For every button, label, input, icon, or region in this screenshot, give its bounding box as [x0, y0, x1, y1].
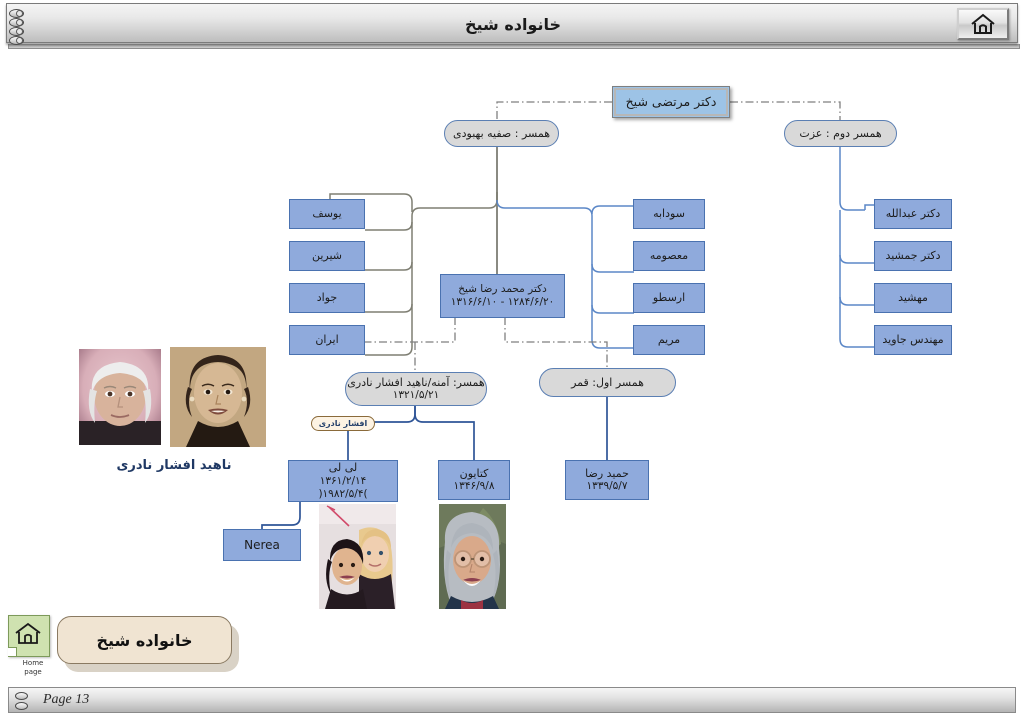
node-date-1: ۱۳۴۶/۹/۸: [454, 480, 495, 493]
node-dates: ۱۲۸۴/۶/۲۰ - ۱۳۱۶/۶/۱۰: [451, 296, 555, 309]
node-child-left-1[interactable]: یوسف: [289, 199, 365, 229]
node-center-spouse-2[interactable]: همسر: آمنه/ناهید افشار نادری ۱۳۲۱/۵/۲۱: [345, 372, 487, 406]
node-label: یوسف: [312, 207, 341, 221]
node-second-wife-child-1[interactable]: دکتر عبدالله: [874, 199, 952, 229]
home-page-shortcut[interactable]: Home page: [8, 615, 50, 659]
node-child-left-4[interactable]: ایران: [289, 325, 365, 355]
node-label: Nerea: [244, 538, 280, 553]
node-grandchild-2[interactable]: کتایون ۱۳۴۶/۹/۸: [438, 460, 510, 500]
node-date-2: )۱۹۸۲/۵/۴(: [318, 488, 367, 501]
home-page-label-line1: Home: [23, 659, 44, 667]
node-second-wife-child-2[interactable]: دکتر جمشید: [874, 241, 952, 271]
node-label: همسر : صفیه بهبودی: [453, 127, 550, 141]
node-label: مریم: [658, 333, 680, 347]
node-child-left-3[interactable]: جواد: [289, 283, 365, 313]
spiral-binding-icon-bottom: [11, 690, 31, 712]
node-label: همسر دوم : عزت: [799, 127, 881, 141]
node-great-grandchild[interactable]: Nerea: [223, 529, 301, 561]
family-tree-diagram: دکتر مرتضی شیخ همسر : صفیه بهبودی همسر د…: [0, 52, 1024, 677]
node-spouse-left[interactable]: همسر : صفیه بهبودی: [444, 120, 559, 147]
node-spouse-right[interactable]: همسر دوم : عزت: [784, 120, 897, 147]
node-label: ارسطو: [653, 291, 685, 305]
node-label: همسر اول: قمر: [571, 376, 644, 390]
node-date-1: ۱۳۶۱/۲/۱۴: [320, 475, 367, 488]
home-page-label-line2: page: [24, 668, 41, 676]
page-number-status: Page 13: [43, 692, 89, 708]
family-sheikh-button[interactable]: خانواده شیخ: [57, 616, 232, 664]
node-label: شیرین: [312, 249, 342, 263]
page-fold-icon: [8, 647, 17, 656]
node-label: مهندس جاوید: [882, 333, 943, 347]
node-child-right-3[interactable]: ارسطو: [633, 283, 705, 313]
node-date: ۱۳۲۱/۵/۲۱: [393, 389, 440, 402]
node-grandchild-3[interactable]: حمید رضا ۱۳۳۹/۵/۷: [565, 460, 649, 500]
tag-label: افشار نادری: [319, 419, 368, 428]
home-button[interactable]: [957, 8, 1009, 40]
node-grandchild-1[interactable]: لی لی ۱۳۶۱/۲/۱۴ )۱۹۸۲/۵/۴(: [288, 460, 398, 502]
node-center-spouse-1[interactable]: همسر اول: قمر: [539, 368, 676, 397]
node-label: دکتر عبدالله: [886, 207, 941, 221]
node-child-right-1[interactable]: سودابه: [633, 199, 705, 229]
node-label: معصومه: [650, 249, 688, 263]
node-label: ایران: [315, 333, 338, 347]
node-label: کتایون: [460, 467, 489, 481]
photo-young-woman-sepia: [170, 347, 266, 447]
photo-caption-nahid: ناهید افشار نادری: [76, 458, 272, 473]
family-name-tag[interactable]: افشار نادری: [311, 416, 375, 431]
node-date-1: ۱۳۳۹/۵/۷: [587, 480, 628, 493]
node-label: جواد: [317, 291, 337, 305]
node-root-person[interactable]: دکتر مرتضی شیخ: [612, 86, 730, 118]
photo-mother-and-daughter: [319, 504, 396, 609]
photo-woman-with-glasses: [439, 504, 506, 609]
home-page-label: Home page: [10, 659, 56, 677]
photo-elderly-woman: [79, 349, 161, 445]
node-label: دکتر مرتضی شیخ: [626, 94, 717, 110]
node-center-person[interactable]: دکتر محمد رضا شیخ ۱۲۸۴/۶/۲۰ - ۱۳۱۶/۶/۱۰: [440, 274, 565, 318]
node-label: سودابه: [653, 207, 685, 221]
node-label: حمید رضا: [585, 467, 629, 481]
node-label: لی لی: [329, 461, 358, 475]
status-bar: Page 13: [8, 687, 1016, 713]
node-child-left-2[interactable]: شیرین: [289, 241, 365, 271]
node-second-wife-child-3[interactable]: مهشید: [874, 283, 952, 313]
titlebar-shadow: [8, 44, 1020, 49]
node-second-wife-child-4[interactable]: مهندس جاوید: [874, 325, 952, 355]
family-button-label: خانواده شیخ: [96, 631, 192, 650]
window-title: خانواده شیخ: [7, 4, 1019, 44]
home-icon: [970, 13, 996, 35]
node-child-right-2[interactable]: معصومه: [633, 241, 705, 271]
window-titlebar: خانواده شیخ: [6, 3, 1018, 43]
node-label: دکتر محمد رضا شیخ: [458, 283, 547, 296]
home-icon: [15, 622, 41, 646]
node-label: همسر: آمنه/ناهید افشار نادری: [347, 376, 484, 390]
node-label: مهشید: [898, 291, 928, 305]
node-child-right-4[interactable]: مریم: [633, 325, 705, 355]
node-label: دکتر جمشید: [885, 249, 940, 263]
